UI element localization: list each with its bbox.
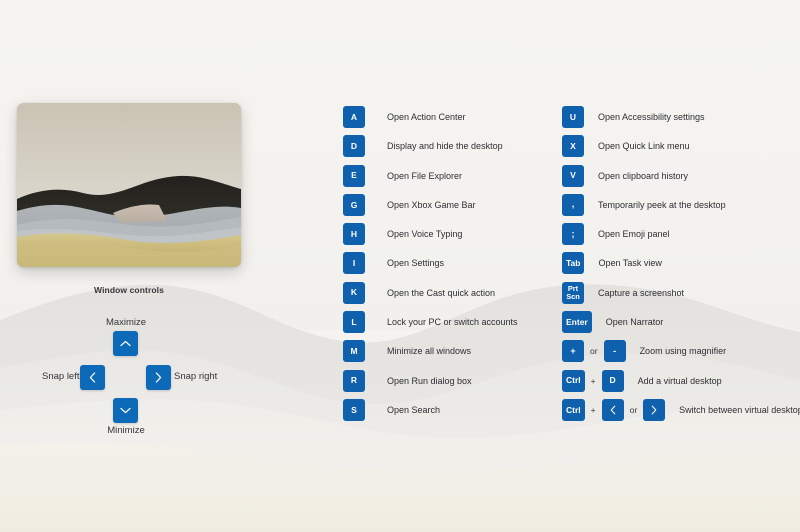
maximize-button[interactable] (113, 331, 138, 356)
wallpaper-thumbnail (17, 103, 241, 267)
chevron-up-icon (120, 340, 131, 347)
shortcut-row: Ctrl+DAdd a virtual desktop (562, 370, 800, 399)
key-g[interactable]: G (343, 194, 365, 216)
key-chevron-left-icon[interactable] (602, 399, 624, 421)
key-x[interactable]: X (562, 135, 584, 157)
shortcut-description: Open Quick Link menu (598, 135, 690, 157)
shortcut-list-right: UOpen Accessibility settingsXOpen Quick … (562, 106, 800, 428)
key-combo: S (343, 399, 365, 421)
shortcut-row: Ctrl+orSwitch between virtual desktops (562, 399, 800, 428)
shortcut-row: ,Temporarily peek at the desktop (562, 194, 800, 223)
minimize-caption: Minimize (0, 425, 252, 436)
shortcut-list-left: AOpen Action CenterDDisplay and hide the… (343, 106, 518, 428)
key-s[interactable]: S (343, 399, 365, 421)
key-combo: , (562, 194, 584, 216)
shortcut-description: Open Search (365, 399, 440, 421)
key-combo: Enter (562, 311, 592, 333)
window-controls-title: Window controls (0, 285, 258, 295)
shortcut-row: MMinimize all windows (343, 340, 518, 369)
key-symbol[interactable]: - (604, 340, 626, 362)
key-enter[interactable]: Enter (562, 311, 592, 333)
key-joiner: + (585, 370, 602, 392)
key-i[interactable]: I (343, 252, 365, 274)
key-combo: ; (562, 223, 584, 245)
key-symbol[interactable]: ; (562, 223, 584, 245)
shortcut-row: LLock your PC or switch accounts (343, 311, 518, 340)
key-prt-scn[interactable]: Prt Scn (562, 282, 584, 304)
shortcut-row: EnterOpen Narrator (562, 311, 800, 340)
key-m[interactable]: M (343, 340, 365, 362)
shortcut-row: KOpen the Cast quick action (343, 282, 518, 311)
key-ctrl[interactable]: Ctrl (562, 399, 585, 421)
key-d[interactable]: D (343, 135, 365, 157)
key-joiner: or (624, 399, 644, 421)
shortcut-description: Display and hide the desktop (365, 135, 503, 157)
shortcut-description: Open Voice Typing (365, 223, 462, 245)
shortcut-row: HOpen Voice Typing (343, 223, 518, 252)
shortcut-description: Zoom using magnifier (640, 340, 727, 362)
chevron-right-icon (155, 372, 162, 383)
shortcut-row: Prt ScnCapture a screenshot (562, 282, 800, 311)
key-combo: A (343, 106, 365, 128)
shortcut-description: Minimize all windows (365, 340, 471, 362)
key-combo: L (343, 311, 365, 333)
shortcut-row: ROpen Run dialog box (343, 370, 518, 399)
key-combo: V (562, 165, 584, 187)
minimize-button[interactable] (113, 398, 138, 423)
shortcut-row: +or-Zoom using magnifier (562, 340, 800, 369)
key-combo: Tab (562, 252, 584, 274)
key-combo: K (343, 282, 365, 304)
shortcut-description: Lock your PC or switch accounts (365, 311, 518, 333)
key-tab[interactable]: Tab (562, 252, 584, 274)
shortcut-description: Open Settings (365, 252, 444, 274)
shortcut-description: Open File Explorer (365, 165, 462, 187)
shortcut-description: Temporarily peek at the desktop (598, 194, 726, 216)
shortcut-row: ;Open Emoji panel (562, 223, 800, 252)
shortcut-description: Open Xbox Game Bar (365, 194, 476, 216)
key-e[interactable]: E (343, 165, 365, 187)
maximize-caption: Maximize (0, 317, 252, 328)
snap-left-caption: Snap left (42, 371, 80, 382)
key-a[interactable]: A (343, 106, 365, 128)
chevron-left-icon (89, 372, 96, 383)
snap-right-button[interactable] (146, 365, 171, 390)
shortcut-description: Open Run dialog box (365, 370, 472, 392)
key-combo: G (343, 194, 365, 216)
key-h[interactable]: H (343, 223, 365, 245)
key-combo: M (343, 340, 365, 362)
key-joiner: or (584, 340, 604, 362)
key-ctrl[interactable]: Ctrl (562, 370, 585, 392)
key-joiner: + (585, 399, 602, 421)
key-l[interactable]: L (343, 311, 365, 333)
key-combo: H (343, 223, 365, 245)
key-v[interactable]: V (562, 165, 584, 187)
key-symbol[interactable]: , (562, 194, 584, 216)
key-combo: Prt Scn (562, 282, 584, 304)
key-combo: Ctrl+or (562, 399, 665, 421)
shortcut-description: Open Action Center (365, 106, 466, 128)
key-symbol[interactable]: + (562, 340, 584, 362)
shortcut-row: TabOpen Task view (562, 252, 800, 281)
shortcut-description: Switch between virtual desktops (679, 399, 800, 421)
shortcut-row: SOpen Search (343, 399, 518, 428)
shortcut-row: VOpen clipboard history (562, 165, 800, 194)
key-chevron-right-icon[interactable] (643, 399, 665, 421)
shortcut-row: AOpen Action Center (343, 106, 518, 135)
shortcut-row: UOpen Accessibility settings (562, 106, 800, 135)
key-combo: E (343, 165, 365, 187)
chevron-down-icon (120, 407, 131, 414)
shortcut-description: Capture a screenshot (598, 282, 684, 304)
shortcut-row: GOpen Xbox Game Bar (343, 194, 518, 223)
shortcut-description: Open Accessibility settings (598, 106, 705, 128)
shortcut-description: Open the Cast quick action (365, 282, 495, 304)
shortcut-row: XOpen Quick Link menu (562, 135, 800, 164)
shortcut-description: Add a virtual desktop (638, 370, 722, 392)
snap-left-button[interactable] (80, 365, 105, 390)
key-k[interactable]: K (343, 282, 365, 304)
shortcut-description: Open Narrator (606, 311, 664, 333)
key-u[interactable]: U (562, 106, 584, 128)
shortcut-description: Open Emoji panel (598, 223, 670, 245)
key-d[interactable]: D (602, 370, 624, 392)
key-combo: +or- (562, 340, 626, 362)
key-combo: X (562, 135, 584, 157)
shortcut-description: Open Task view (598, 252, 661, 274)
key-combo: D (343, 135, 365, 157)
shortcut-row: EOpen File Explorer (343, 165, 518, 194)
shortcut-row: IOpen Settings (343, 252, 518, 281)
snap-right-caption: Snap right (174, 371, 217, 382)
shortcut-row: DDisplay and hide the desktop (343, 135, 518, 164)
key-combo: U (562, 106, 584, 128)
window-controls-illustration-panel: Window controls Maximize Minimize Snap l… (0, 0, 300, 532)
wallpaper-thumbnail-image (17, 103, 241, 267)
key-r[interactable]: R (343, 370, 365, 392)
key-combo: R (343, 370, 365, 392)
key-combo: I (343, 252, 365, 274)
key-combo: Ctrl+D (562, 370, 624, 392)
shortcut-description: Open clipboard history (598, 165, 688, 187)
